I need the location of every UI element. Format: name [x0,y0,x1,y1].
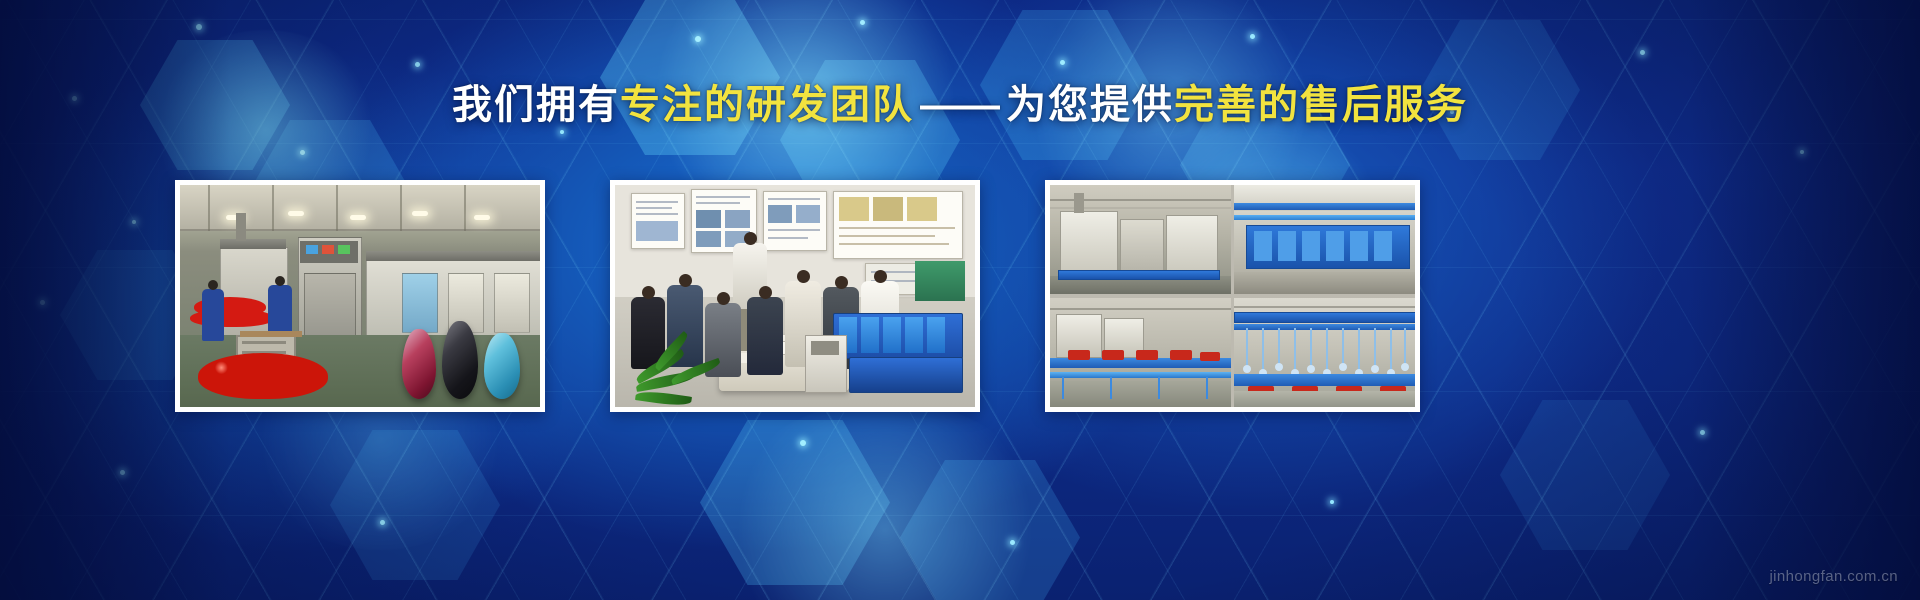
headline-segment-2: 专注的研发团队 [620,83,914,127]
network-node-dot [800,440,806,446]
photo-card-meeting[interactable] [610,180,980,412]
network-node-dot [1640,50,1645,55]
conveyor-rail [1234,374,1415,386]
headline-segment-1: 我们拥有 [452,83,620,127]
network-node-dot [380,520,385,525]
plant-leaf [635,389,692,407]
quadrant-conveyor-red-parts [1050,298,1231,407]
glass-vase-black [442,321,478,399]
site-watermark: jinhongfan.com.cn [1769,568,1898,585]
photo-technical-meeting [615,185,975,407]
network-node-dot [300,150,305,155]
red-workpiece-pile [198,353,328,399]
quadrant-oven-tunnel [1050,185,1231,294]
network-node-dot [415,62,420,67]
photo-card-factory[interactable] [175,180,545,412]
network-node-dot [1250,34,1255,39]
network-node-dot [860,20,865,25]
quadrant-hanger-chain-line [1234,298,1415,407]
network-node-dot [120,470,125,475]
network-node-dot [1330,500,1334,504]
quadrant-blue-pipework [1234,185,1415,294]
banner-stage: 我们拥有专注的研发团队——为您提供完善的售后服务 [0,0,1920,600]
headline-dash: —— [914,83,1006,127]
worker-figure [202,289,224,341]
photo-factory-curing-line [180,185,540,407]
network-node-dot [1700,430,1705,435]
headline-segment-4: 完善的售后服务 [1174,83,1468,127]
photo-production-line-composite [1050,185,1415,407]
headline-segment-3: 为您提供 [1006,83,1174,127]
network-node-dot [196,24,202,30]
photo-card-production-line[interactable] [1045,180,1420,412]
network-node-dot [695,36,701,42]
page-title: 我们拥有专注的研发团队——为您提供完善的售后服务 [0,80,1920,130]
network-node-dot [1800,150,1804,154]
glass-vase-red [402,329,436,399]
network-node-dot [1060,60,1065,65]
network-node-dot [40,300,45,305]
network-node-dot [132,220,136,224]
network-node-dot [1010,540,1015,545]
glass-vase-blue [484,333,520,399]
network-node-dot [560,130,564,134]
person-seated [747,297,783,375]
